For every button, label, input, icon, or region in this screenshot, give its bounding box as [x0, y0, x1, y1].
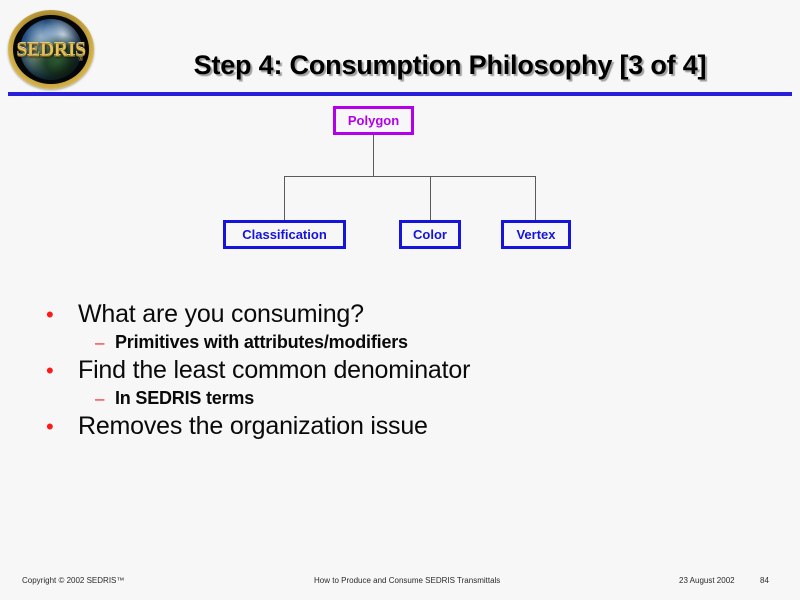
- bullet-text: Primitives with attributes/modifiers: [115, 332, 408, 354]
- sedris-logo: SEDRIS ®: [8, 10, 94, 89]
- diagram-node-classification-label: Classification: [242, 228, 327, 241]
- diagram-node-polygon[interactable]: Polygon: [333, 106, 414, 135]
- connector-branch-right: [535, 176, 536, 220]
- connector-branch-left: [284, 176, 285, 220]
- footer-date: 23 August 2002: [679, 576, 735, 585]
- title-divider: [8, 92, 792, 96]
- sub-bullet-dash-icon: –: [40, 334, 115, 351]
- bullet-text: Removes the organization issue: [78, 412, 428, 442]
- bullet-marker-icon: •: [40, 416, 78, 438]
- bullet-item: – Primitives with attributes/modifiers: [40, 332, 740, 354]
- bullet-marker-icon: •: [40, 304, 78, 326]
- bullet-item: – In SEDRIS terms: [40, 388, 740, 410]
- slide-canvas: SEDRIS ® Step 4: Consumption Philosophy …: [0, 0, 800, 600]
- slide-footer: Copyright © 2002 SEDRIS™ How to Produce …: [0, 566, 800, 600]
- diagram-node-vertex[interactable]: Vertex: [501, 220, 571, 249]
- diagram-node-polygon-label: Polygon: [348, 114, 399, 127]
- bullet-list: • What are you consuming? – Primitives w…: [40, 300, 740, 444]
- diagram-node-color-label: Color: [413, 228, 447, 241]
- bullet-text: What are you consuming?: [78, 300, 364, 330]
- diagram-node-color[interactable]: Color: [399, 220, 461, 249]
- bullet-item: • Removes the organization issue: [40, 412, 740, 442]
- footer-page-number: 84: [760, 576, 769, 585]
- sub-bullet-dash-icon: –: [40, 390, 115, 407]
- diagram-node-vertex-label: Vertex: [516, 228, 555, 241]
- connector-horizontal-bar: [284, 176, 536, 177]
- bullet-text: In SEDRIS terms: [115, 388, 254, 410]
- class-hierarchy-diagram: Polygon Classification Color Vertex: [0, 100, 800, 260]
- page-title: Step 4: Consumption Philosophy [3 of 4]: [110, 50, 790, 81]
- bullet-item: • What are you consuming?: [40, 300, 740, 330]
- bullet-item: • Find the least common denominator: [40, 356, 740, 386]
- bullet-text: Find the least common denominator: [78, 356, 470, 386]
- diagram-node-classification[interactable]: Classification: [223, 220, 346, 249]
- connector-branch-middle: [430, 176, 431, 220]
- bullet-marker-icon: •: [40, 360, 78, 382]
- connector-root-vertical: [373, 135, 374, 176]
- footer-document-title: How to Produce and Consume SEDRIS Transm…: [314, 576, 500, 585]
- footer-copyright: Copyright © 2002 SEDRIS™: [22, 576, 124, 585]
- logo-trademark-icon: ®: [79, 57, 83, 63]
